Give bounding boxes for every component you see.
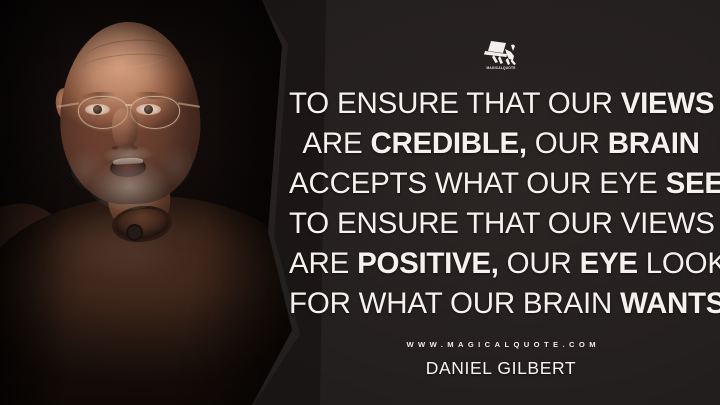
portrait-figure: [0, 0, 300, 405]
quote-segment: LOOKS: [638, 247, 720, 280]
quote-emphasis: VIEWS: [621, 87, 715, 120]
magicalquote-logo[interactable]: MAGICALQUOTE: [478, 40, 524, 70]
lapel-microphone: [126, 224, 143, 241]
quote-line: ACCEPTS WHAT OUR EYE SEES.: [289, 164, 713, 204]
quote-text: TO ENSURE THAT OUR VIEWSARE CREDIBLE, OU…: [289, 84, 713, 324]
quote-emphasis: WANTS: [620, 287, 720, 320]
site-url[interactable]: WWW.MAGICALQUOTE.COM: [402, 340, 600, 349]
quote-emphasis: POSITIVE,: [357, 247, 499, 280]
quote-emphasis: SEES: [666, 167, 720, 200]
quote-line: TO ENSURE THAT OUR VIEWS: [289, 204, 713, 244]
quote-line: FOR WHAT OUR BRAIN WANTS.: [289, 284, 713, 324]
quote-segment: TO ENSURE THAT OUR VIEWS: [289, 207, 715, 240]
quote-segment: OUR: [499, 247, 580, 280]
quote-emphasis: EYE: [580, 247, 638, 280]
quote-line: ARE POSITIVE, OUR EYE LOOKS: [289, 244, 713, 284]
figure-nose: [112, 108, 138, 150]
quote-poster: MAGICALQUOTE TO ENSURE THAT OUR VIEWSARE…: [0, 0, 720, 405]
quote-segment: ARE: [289, 247, 357, 280]
logo-caption: MAGICALQUOTE: [486, 66, 516, 70]
quote-line: TO ENSURE THAT OUR VIEWS: [289, 84, 713, 124]
portrait-photo: [0, 0, 300, 405]
eyeglass-bridge: [125, 104, 132, 106]
eyeglass-temple-right: [178, 102, 200, 107]
quote-segment: FOR WHAT OUR BRAIN: [289, 287, 620, 320]
quote-segment: TO ENSURE THAT OUR: [289, 87, 621, 120]
quote-content: MAGICALQUOTE TO ENSURE THAT OUR VIEWSARE…: [282, 0, 720, 405]
quote-segment: OUR: [527, 127, 608, 160]
quote-line: ARE CREDIBLE, OUR BRAIN: [289, 124, 713, 164]
quote-emphasis: CREDIBLE,: [370, 127, 526, 160]
quote-segment: ARE: [302, 127, 370, 160]
eyeglass-temple-left: [57, 102, 79, 107]
author-name: DANIEL GILBERT: [426, 358, 576, 379]
quote-emphasis: BRAIN: [608, 127, 700, 160]
quote-segment: ACCEPTS WHAT OUR EYE: [289, 167, 666, 200]
